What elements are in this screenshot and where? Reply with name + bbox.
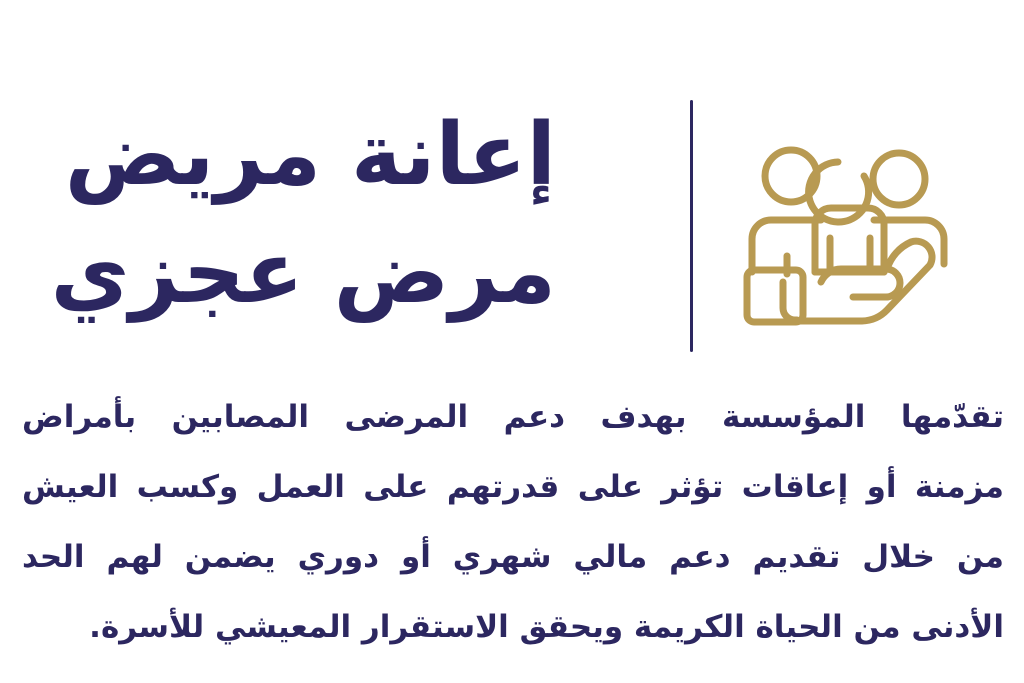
header-section: إعانة مريض مرض عجزي: [0, 0, 1024, 372]
title-line-1: إعانة مريض: [86, 96, 556, 214]
person-head-right: [873, 153, 925, 205]
page-title: إعانة مريض مرض عجزي: [86, 96, 556, 332]
hand-holding-family-glyph: [735, 132, 960, 327]
hand-holding-family-icon: [735, 132, 960, 327]
infographic-card: إعانة مريض مرض عجزي: [0, 0, 1024, 683]
description-line-2: مزمنة أو إعاقات تؤثر على قدرتهم على العم…: [22, 452, 1004, 522]
hand-palm-edge: [783, 282, 797, 320]
sleeve-cuff: [747, 270, 803, 322]
vertical-divider: [690, 100, 693, 352]
description-line-4: الأدنى من الحياة الكريمة ويحقق الاستقرار…: [22, 592, 1004, 662]
description-paragraph: تقدّمها المؤسسة بهدف دعم المرضى المصابين…: [22, 382, 1004, 662]
title-line-2: مرض عجزي: [86, 214, 556, 332]
description-line-1: تقدّمها المؤسسة بهدف دعم المرضى المصابين…: [22, 382, 1004, 452]
description-line-3: من خلال تقديم دعم مالي شهري أو دوري يضمن…: [22, 522, 1004, 592]
